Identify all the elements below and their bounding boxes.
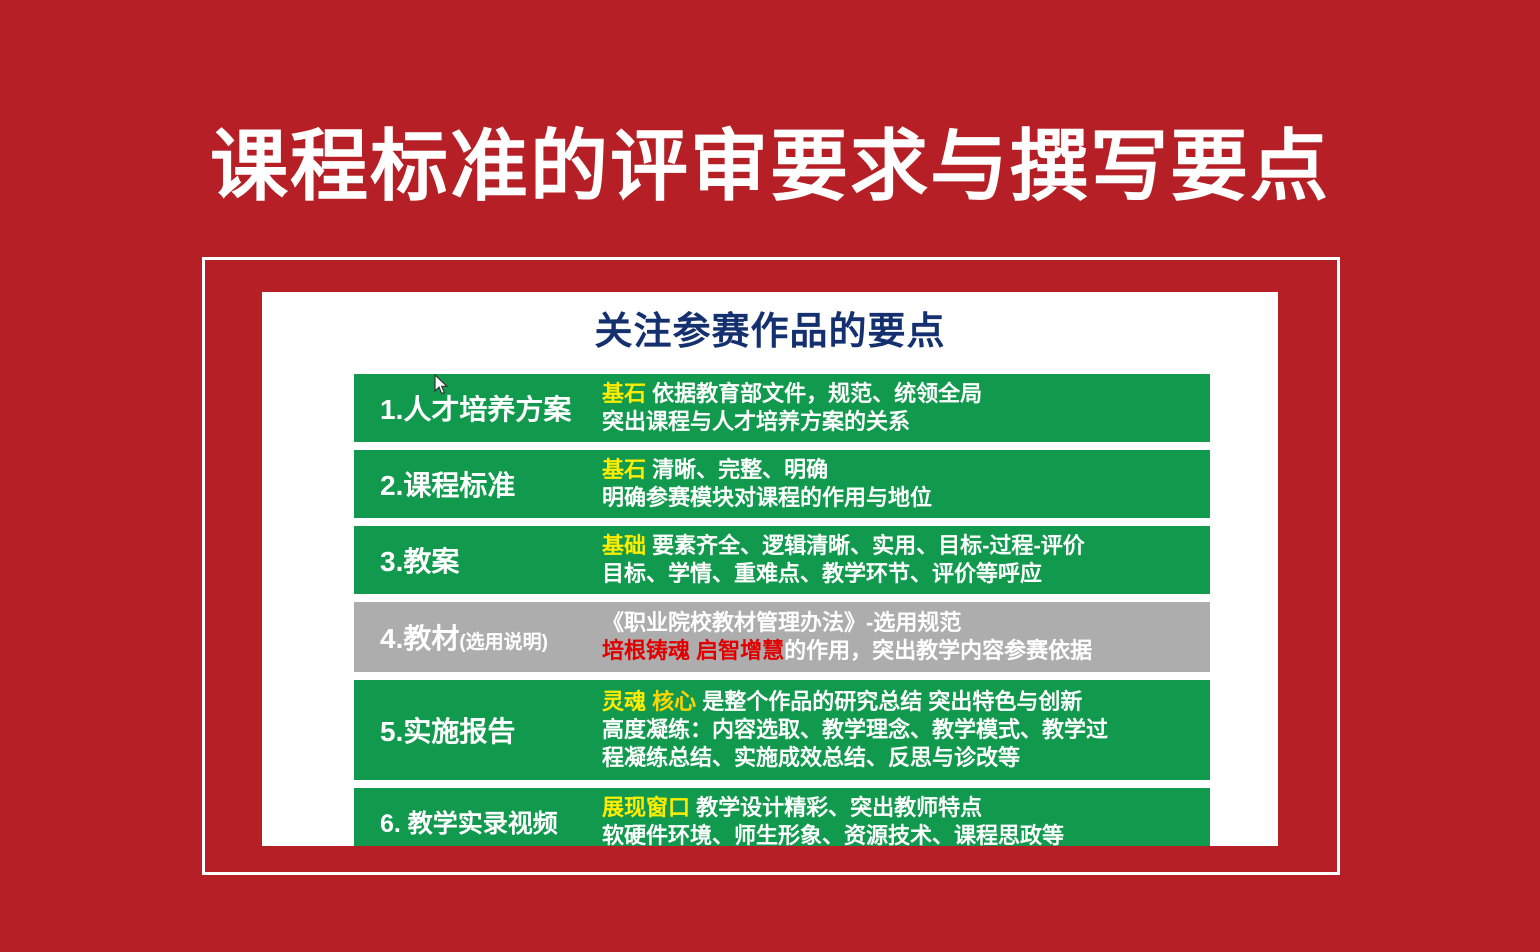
row-line2-text: 突出课程与人才培养方案的关系	[602, 408, 1204, 436]
row-line1-text: 《职业院校教材管理办法》-选用规范	[602, 609, 1204, 637]
row-description: 灵魂 核心 是整个作品的研究总结 突出特色与创新 高度凝练：内容选取、教学理念、…	[602, 688, 1210, 772]
row-line2-text: 的作用，突出教学内容参赛依据	[784, 638, 1092, 663]
row-description: 基础 要素齐全、逻辑清晰、实用、目标-过程-评价 目标、学情、重难点、教学环节、…	[602, 532, 1210, 588]
row-label: 2.课程标准	[354, 464, 602, 504]
row-label: 6. 教学实录视频	[354, 804, 602, 840]
row-keyword-b: 启智增慧	[696, 638, 784, 663]
row-keyword-secondary: 核心	[652, 689, 696, 714]
list-item[interactable]: 5.实施报告 灵魂 核心 是整个作品的研究总结 突出特色与创新 高度凝练：内容选…	[354, 680, 1210, 780]
row-description: 基石 依据教育部文件，规范、统领全局 突出课程与人才培养方案的关系	[602, 380, 1210, 436]
row-description: 《职业院校教材管理办法》-选用规范 培根铸魂 启智增慧的作用，突出教学内容参赛依…	[602, 609, 1210, 665]
list-item[interactable]: 1.人才培养方案 基石 依据教育部文件，规范、统领全局 突出课程与人才培养方案的…	[354, 374, 1210, 442]
row-label-main: 4.教材	[380, 623, 459, 654]
row-line1-text: 是整个作品的研究总结 突出特色与创新	[702, 689, 1082, 714]
row-description: 基石 清晰、完整、明确 明确参赛模块对课程的作用与地位	[602, 456, 1210, 512]
row-label: 3.教案	[354, 540, 602, 580]
criteria-list: 1.人才培养方案 基石 依据教育部文件，规范、统领全局 突出课程与人才培养方案的…	[354, 374, 1210, 846]
list-item[interactable]: 6. 教学实录视频 展现窗口 教学设计精彩、突出教师特点 软硬件环境、师生形象、…	[354, 788, 1210, 846]
row-label: 5.实施报告	[354, 710, 602, 750]
row-keyword-a: 培根铸魂	[602, 638, 690, 663]
row-line1-text: 清晰、完整、明确	[652, 457, 828, 482]
row-line1-text: 依据教育部文件，规范、统领全局	[652, 381, 982, 406]
row-line2-text: 高度凝练：内容选取、教学理念、教学模式、教学过	[602, 716, 1204, 744]
row-line1-text: 教学设计精彩、突出教师特点	[696, 795, 982, 820]
list-item[interactable]: 3.教案 基础 要素齐全、逻辑清晰、实用、目标-过程-评价 目标、学情、重难点、…	[354, 526, 1210, 594]
list-item[interactable]: 4.教材(选用说明) 《职业院校教材管理办法》-选用规范 培根铸魂 启智增慧的作…	[354, 602, 1210, 672]
row-keyword: 展现窗口	[602, 795, 690, 820]
row-keyword: 灵魂	[602, 689, 646, 714]
row-description: 展现窗口 教学设计精彩、突出教师特点 软硬件环境、师生形象、资源技术、课程思政等	[602, 794, 1210, 846]
row-label-sub: (选用说明)	[459, 632, 548, 653]
presentation-slide: 课程标准的评审要求与撰写要点 关注参赛作品的要点 1.人才培养方案 基石 依据教…	[0, 0, 1540, 952]
row-keyword: 基石	[602, 457, 646, 482]
row-line2-text: 明确参赛模块对课程的作用与地位	[602, 484, 1204, 512]
row-line2-text: 软硬件环境、师生形象、资源技术、课程思政等	[602, 822, 1204, 846]
row-label: 1.人才培养方案	[354, 388, 602, 428]
panel-heading: 关注参赛作品的要点	[262, 300, 1278, 355]
row-line3-text: 程凝练总结、实施成效总结、反思与诊改等	[602, 744, 1204, 772]
embedded-slide-panel: 关注参赛作品的要点 1.人才培养方案 基石 依据教育部文件，规范、统领全局 突出…	[262, 292, 1278, 846]
page-title: 课程标准的评审要求与撰写要点	[0, 124, 1540, 210]
row-line1-text: 要素齐全、逻辑清晰、实用、目标-过程-评价	[652, 533, 1085, 558]
list-item[interactable]: 2.课程标准 基石 清晰、完整、明确 明确参赛模块对课程的作用与地位	[354, 450, 1210, 518]
row-keyword: 基石	[602, 381, 646, 406]
row-keyword: 基础	[602, 533, 646, 558]
row-line2-text: 目标、学情、重难点、教学环节、评价等呼应	[602, 560, 1204, 588]
row-label: 4.教材(选用说明)	[354, 617, 602, 657]
